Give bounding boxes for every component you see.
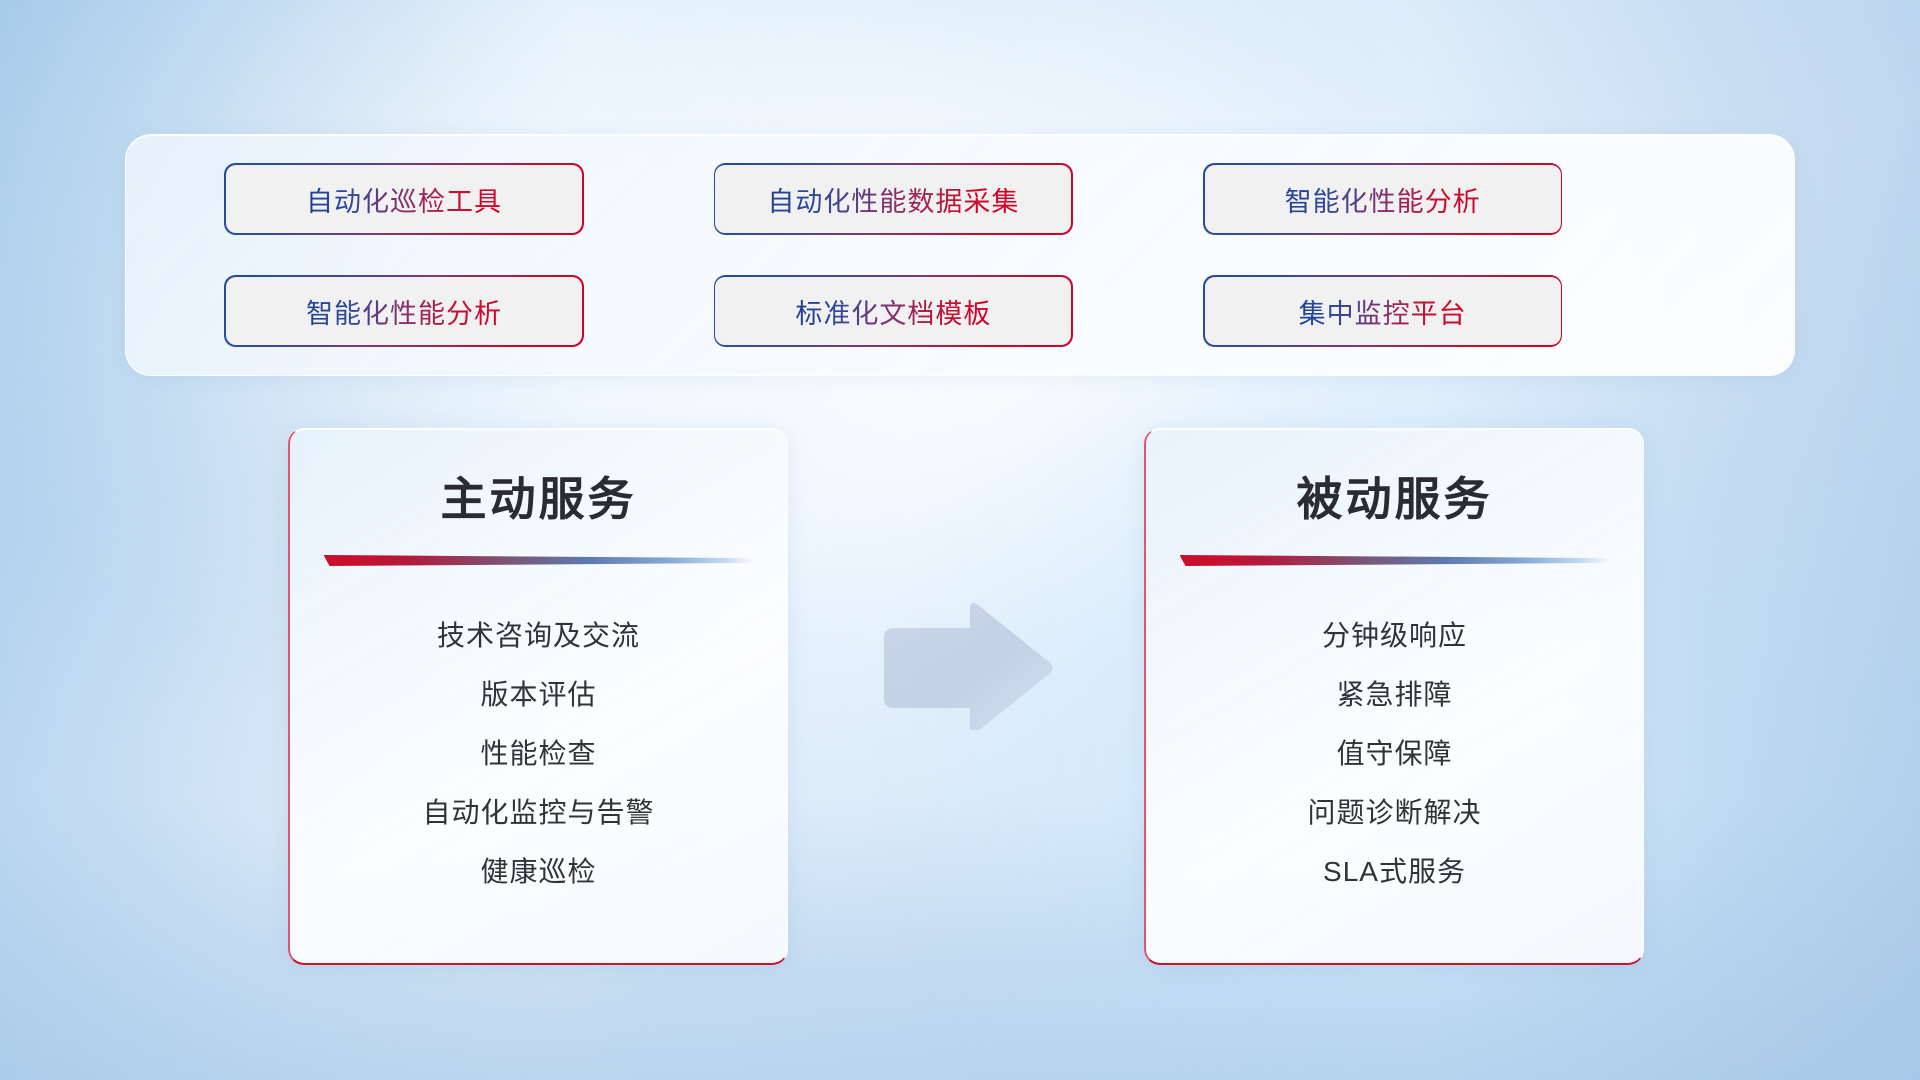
capability-tag-cell: 自动化巡检工具 — [226, 165, 715, 233]
capability-tag-cell: 智能化性能分析 — [226, 277, 715, 345]
capability-tag-row-1: 自动化巡检工具 自动化性能数据采集 智能化性能分析 — [126, 165, 1794, 233]
capability-tag-automation-inspection-tool[interactable]: 自动化巡检工具 — [226, 165, 582, 233]
capability-tag-intelligent-performance-analysis[interactable]: 智能化性能分析 — [1205, 165, 1561, 233]
service-card-title: 主动服务 — [290, 463, 787, 529]
capability-tag-intelligent-performance-analysis-2[interactable]: 智能化性能分析 — [226, 277, 582, 345]
service-card-divider — [1180, 555, 1610, 566]
capability-tag-label: 智能化性能分析 — [306, 292, 502, 331]
service-list-item: 健康巡检 — [480, 840, 596, 899]
service-list-item: 值守保障 — [1336, 722, 1452, 781]
capability-tag-standard-doc-template[interactable]: 标准化文档模板 — [715, 277, 1071, 345]
divider-gradient-bar — [1180, 555, 1610, 566]
service-card-item-list: 技术咨询及交流 版本评估 性能检查 自动化监控与告警 健康巡检 — [290, 604, 787, 899]
service-list-item: 技术咨询及交流 — [437, 604, 640, 663]
service-card-item-list: 分钟级响应 紧急排障 值守保障 问题诊断解决 SLA式服务 — [1146, 604, 1643, 899]
capability-tag-cell: 智能化性能分析 — [1205, 165, 1694, 233]
capability-tag-label: 智能化性能分析 — [1285, 180, 1481, 219]
service-card-title: 被动服务 — [1146, 463, 1643, 529]
capability-tag-label: 自动化巡检工具 — [306, 180, 502, 219]
capability-tag-label: 标准化文档模板 — [795, 292, 991, 331]
capability-tag-automation-performance-collection[interactable]: 自动化性能数据采集 — [715, 165, 1071, 233]
capability-tag-cell: 自动化性能数据采集 — [715, 165, 1204, 233]
service-list-item: 自动化监控与告警 — [422, 781, 654, 840]
capability-tag-row-2: 智能化性能分析 标准化文档模板 集中监控平台 — [126, 277, 1794, 345]
capability-tag-centralized-monitoring-platform[interactable]: 集中监控平台 — [1205, 277, 1561, 345]
service-list-item: 版本评估 — [480, 663, 596, 722]
capability-tag-panel: 自动化巡检工具 自动化性能数据采集 智能化性能分析 智能化性能分析 — [125, 134, 1795, 376]
divider-gradient-bar — [324, 555, 754, 566]
service-list-item: SLA式服务 — [1323, 840, 1466, 899]
arrow-right-icon — [878, 600, 1058, 730]
service-card-passive[interactable]: 被动服务 分钟级响应 紧急排障 值守保障 问题诊断解决 SLA式服务 — [1144, 428, 1644, 965]
capability-tag-cell: 集中监控平台 — [1205, 277, 1694, 345]
service-card-divider — [324, 555, 754, 566]
service-card-active[interactable]: 主动服务 技术咨询及交流 版本评估 性能检查 自动化监控与告警 健康巡检 — [288, 428, 788, 965]
capability-tag-label: 集中监控平台 — [1299, 292, 1467, 331]
capability-tag-cell: 标准化文档模板 — [715, 277, 1204, 345]
diagram-stage: 自动化巡检工具 自动化性能数据采集 智能化性能分析 智能化性能分析 — [0, 0, 1920, 1080]
service-list-item: 紧急排障 — [1336, 663, 1452, 722]
service-list-item: 问题诊断解决 — [1307, 781, 1481, 840]
service-list-item: 性能检查 — [480, 722, 596, 781]
service-list-item: 分钟级响应 — [1322, 604, 1467, 663]
capability-tag-label: 自动化性能数据采集 — [767, 180, 1019, 219]
